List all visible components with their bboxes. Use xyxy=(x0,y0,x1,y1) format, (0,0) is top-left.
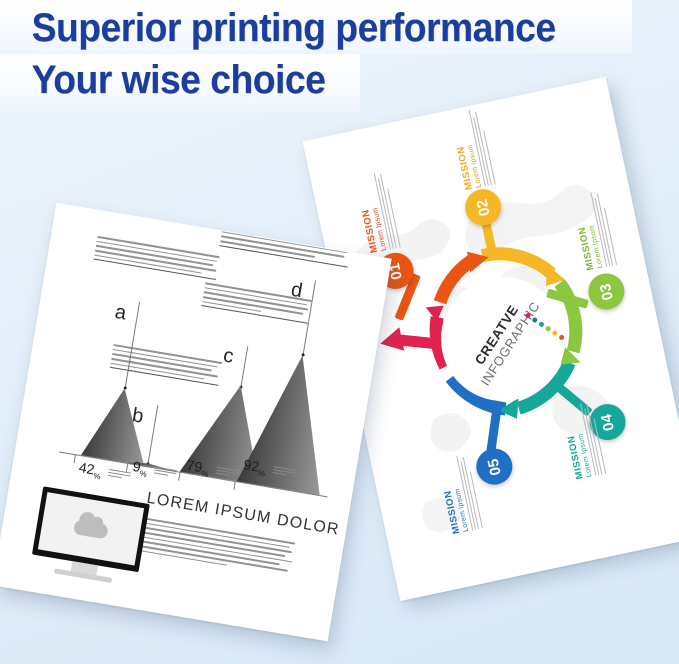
node-03-number: 03 xyxy=(596,282,616,302)
headline-block: Superior printing performance Your wise … xyxy=(0,0,679,112)
node-04-number: 04 xyxy=(598,412,618,432)
headline-band-2: Your wise choice xyxy=(0,54,360,112)
document-body: a b c xyxy=(0,203,392,642)
triangle-bar-a xyxy=(81,383,156,466)
monitor-illustration xyxy=(29,486,149,587)
headline-line-2: Your wise choice xyxy=(0,54,335,112)
headline-band-1: Superior printing performance xyxy=(0,0,632,54)
poster-stage: CREATVE INFOGRAPHIC 01 MISSION Lorem Ips… xyxy=(0,0,679,664)
node-02-number: 02 xyxy=(473,197,493,217)
statistics-page: a b c xyxy=(0,203,392,642)
node-05-number: 05 xyxy=(484,457,504,477)
arrowhead-red-branch xyxy=(378,327,405,355)
triangle-chart xyxy=(0,203,392,642)
monitor-screen xyxy=(38,492,144,565)
headline-line-1: Superior printing performance xyxy=(0,0,588,54)
cloud-icon xyxy=(73,519,109,539)
